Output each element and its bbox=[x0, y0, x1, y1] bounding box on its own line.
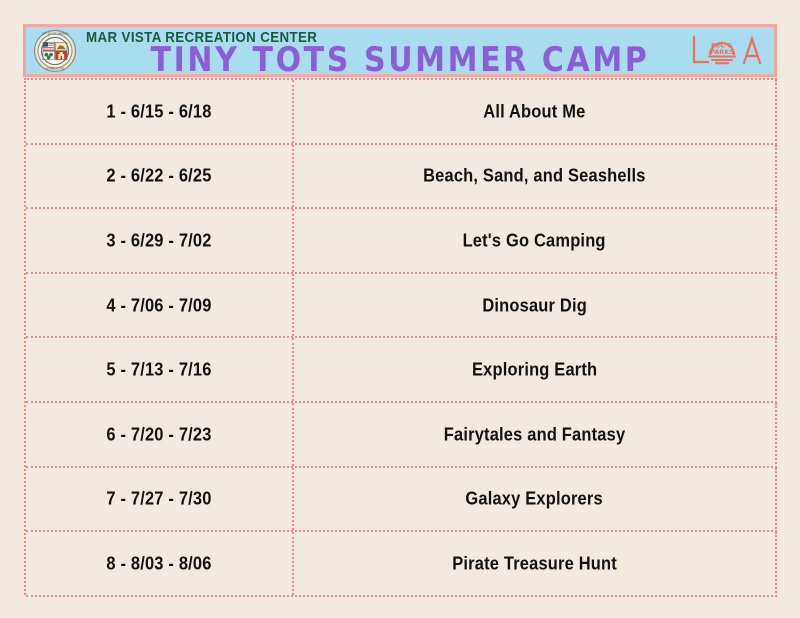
theme-cell: Fairytales and Fantasy bbox=[294, 403, 775, 466]
session-label: 6 - 7/20 - 7/23 bbox=[106, 423, 211, 445]
flyer-page: CITY OF LOS ANGELES FOUNDED 1781 MAR VIS… bbox=[0, 0, 800, 618]
theme-cell: All About Me bbox=[294, 80, 775, 143]
theme-label: Exploring Earth bbox=[472, 359, 597, 381]
table-row: 8 - 8/03 - 8/06 Pirate Treasure Hunt bbox=[26, 532, 777, 597]
session-cell: 4 - 7/06 - 7/09 bbox=[26, 274, 294, 337]
la-rec-and-parks-logo-icon: REC & PARKS bbox=[682, 31, 768, 71]
theme-label: Pirate Treasure Hunt bbox=[452, 552, 617, 574]
theme-label: Dinosaur Dig bbox=[482, 294, 587, 316]
session-label: 2 - 6/22 - 6/25 bbox=[106, 165, 211, 187]
session-cell: 5 - 7/13 - 7/16 bbox=[26, 338, 294, 401]
theme-label: All About Me bbox=[483, 100, 585, 122]
session-cell: 7 - 7/27 - 7/30 bbox=[26, 468, 294, 531]
session-label: 3 - 6/29 - 7/02 bbox=[106, 229, 211, 251]
session-cell: 6 - 7/20 - 7/23 bbox=[26, 403, 294, 466]
session-label: 4 - 7/06 - 7/09 bbox=[106, 294, 211, 316]
theme-cell: Dinosaur Dig bbox=[294, 274, 775, 337]
theme-cell: Beach, Sand, and Seashells bbox=[294, 145, 775, 208]
table-row: 7 - 7/27 - 7/30 Galaxy Explorers bbox=[26, 468, 777, 533]
theme-cell: Let's Go Camping bbox=[294, 209, 775, 272]
svg-text:CITY OF LOS ANGELES: CITY OF LOS ANGELES bbox=[42, 33, 69, 36]
camp-schedule-table: 1 - 6/15 - 6/18 All About Me 2 - 6/22 - … bbox=[24, 78, 777, 595]
table-row: 1 - 6/15 - 6/18 All About Me bbox=[26, 80, 777, 145]
page-title: TINY TOTS SUMMER CAMP bbox=[26, 41, 774, 80]
session-label: 8 - 8/03 - 8/06 bbox=[106, 552, 211, 574]
svg-text:PARKS: PARKS bbox=[710, 48, 734, 56]
session-cell: 8 - 8/03 - 8/06 bbox=[26, 532, 294, 595]
theme-label: Beach, Sand, and Seashells bbox=[423, 165, 645, 187]
session-cell: 2 - 6/22 - 6/25 bbox=[26, 145, 294, 208]
session-label: 5 - 7/13 - 7/16 bbox=[106, 359, 211, 381]
session-label: 7 - 7/27 - 7/30 bbox=[106, 488, 211, 510]
theme-label: Let's Go Camping bbox=[463, 229, 606, 251]
theme-cell: Exploring Earth bbox=[294, 338, 775, 401]
table-row: 2 - 6/22 - 6/25 Beach, Sand, and Seashel… bbox=[26, 145, 777, 210]
table-row: 3 - 6/29 - 7/02 Let's Go Camping bbox=[26, 209, 777, 274]
header-banner: CITY OF LOS ANGELES FOUNDED 1781 MAR VIS… bbox=[23, 24, 777, 77]
theme-label: Fairytales and Fantasy bbox=[444, 423, 626, 445]
session-cell: 3 - 6/29 - 7/02 bbox=[26, 209, 294, 272]
theme-label: Galaxy Explorers bbox=[466, 488, 603, 510]
theme-cell: Pirate Treasure Hunt bbox=[294, 532, 775, 595]
theme-cell: Galaxy Explorers bbox=[294, 468, 775, 531]
session-label: 1 - 6/15 - 6/18 bbox=[106, 100, 211, 122]
table-row: 4 - 7/06 - 7/09 Dinosaur Dig bbox=[26, 274, 777, 339]
table-row: 5 - 7/13 - 7/16 Exploring Earth bbox=[26, 338, 777, 403]
session-cell: 1 - 6/15 - 6/18 bbox=[26, 80, 294, 143]
table-row: 6 - 7/20 - 7/23 Fairytales and Fantasy bbox=[26, 403, 777, 468]
